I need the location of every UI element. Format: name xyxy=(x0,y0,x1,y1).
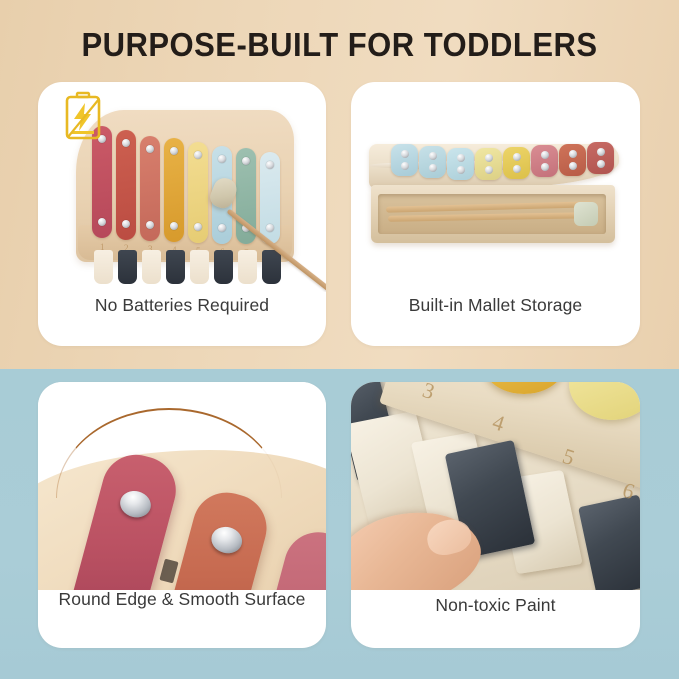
side-bar-1 xyxy=(391,144,418,176)
mallet-head-stored xyxy=(574,202,598,226)
screw-icon xyxy=(401,150,409,158)
xylophone-bar-5 xyxy=(188,142,208,243)
keyboard-key-navy xyxy=(578,495,640,590)
screw-icon xyxy=(569,162,577,170)
screw-icon xyxy=(429,164,437,172)
side-bar-4 xyxy=(475,148,502,180)
piano-key xyxy=(94,250,113,284)
page-title: PURPOSE-BUILT FOR TODDLERS xyxy=(20,26,658,64)
feature-card-no-batteries: 1 2 3 4 5 6 7 xyxy=(38,82,326,346)
piano-key xyxy=(166,250,185,284)
piano-key xyxy=(142,250,161,284)
feature-card-round-edge: Round Edge & Smooth Surface xyxy=(38,382,326,648)
piano-key xyxy=(238,250,257,284)
feature-label-round-edge: Round Edge & Smooth Surface xyxy=(38,588,326,610)
screw-icon xyxy=(122,220,130,228)
piano-key xyxy=(118,250,137,284)
round-edge-illustration xyxy=(38,382,326,590)
screw-icon xyxy=(208,524,245,557)
screw-icon xyxy=(98,218,106,226)
screw-icon xyxy=(266,224,274,232)
screw-icon xyxy=(146,221,154,229)
screw-icon xyxy=(170,222,178,230)
screw-icon xyxy=(117,488,154,521)
screw-icon xyxy=(541,163,549,171)
feature-label-mallet-storage: Built-in Mallet Storage xyxy=(351,294,640,316)
screw-icon xyxy=(513,165,521,173)
xylophone-bar-1 xyxy=(92,126,112,238)
screw-icon xyxy=(242,157,250,165)
feature-image-non-toxic-paint: 3 4 5 6 xyxy=(351,382,640,590)
feature-label-non-toxic-paint: Non-toxic Paint xyxy=(351,594,640,616)
screw-icon xyxy=(457,154,465,162)
feature-card-mallet-storage: Built-in Mallet Storage xyxy=(351,82,640,346)
screw-icon xyxy=(485,166,493,174)
side-bar-3 xyxy=(447,148,474,180)
xylophone-bar-3 xyxy=(140,136,160,241)
screw-icon xyxy=(194,223,202,231)
screw-icon xyxy=(218,224,226,232)
xylophone-bar-4 xyxy=(164,138,184,242)
xylophone-side-illustration xyxy=(351,82,640,292)
piano-key xyxy=(262,250,281,284)
screw-icon xyxy=(457,166,465,174)
stored-mallet-1 xyxy=(386,201,592,212)
xylophone-bar-8 xyxy=(260,152,280,244)
screw-icon xyxy=(401,162,409,170)
side-bar-7 xyxy=(559,144,586,176)
storage-cavity xyxy=(378,194,606,234)
xylophone-bar-2 xyxy=(116,130,136,240)
screw-icon xyxy=(485,154,493,162)
screw-icon xyxy=(194,151,202,159)
screw-icon xyxy=(170,147,178,155)
screw-icon xyxy=(569,150,577,158)
mallet-storage-compartment xyxy=(371,185,615,243)
screw-icon xyxy=(218,155,226,163)
screw-icon xyxy=(266,161,274,169)
side-bar-5 xyxy=(503,147,530,179)
screw-icon xyxy=(513,153,521,161)
no-battery-icon xyxy=(60,90,106,142)
side-bar-2 xyxy=(419,146,446,178)
feature-image-mallet-storage xyxy=(351,82,640,292)
feature-image-round-edge xyxy=(38,382,326,590)
screw-icon xyxy=(597,148,605,156)
feature-label-no-batteries: No Batteries Required xyxy=(38,294,326,316)
screw-icon xyxy=(429,152,437,160)
keyboard-closeup-illustration: 3 4 5 6 xyxy=(351,382,640,590)
screw-icon xyxy=(541,151,549,159)
piano-key xyxy=(190,250,209,284)
screw-icon xyxy=(122,139,130,147)
stored-mallet-2 xyxy=(388,212,590,222)
screw-icon xyxy=(597,160,605,168)
screw-icon xyxy=(146,145,154,153)
promo-feature-grid: PURPOSE-BUILT FOR TODDLERS xyxy=(0,0,679,679)
side-bar-6 xyxy=(531,145,558,177)
side-bar-8 xyxy=(587,142,614,174)
feature-card-non-toxic-paint: 3 4 5 6 Non-toxic Paint xyxy=(351,382,640,648)
piano-key xyxy=(214,250,233,284)
